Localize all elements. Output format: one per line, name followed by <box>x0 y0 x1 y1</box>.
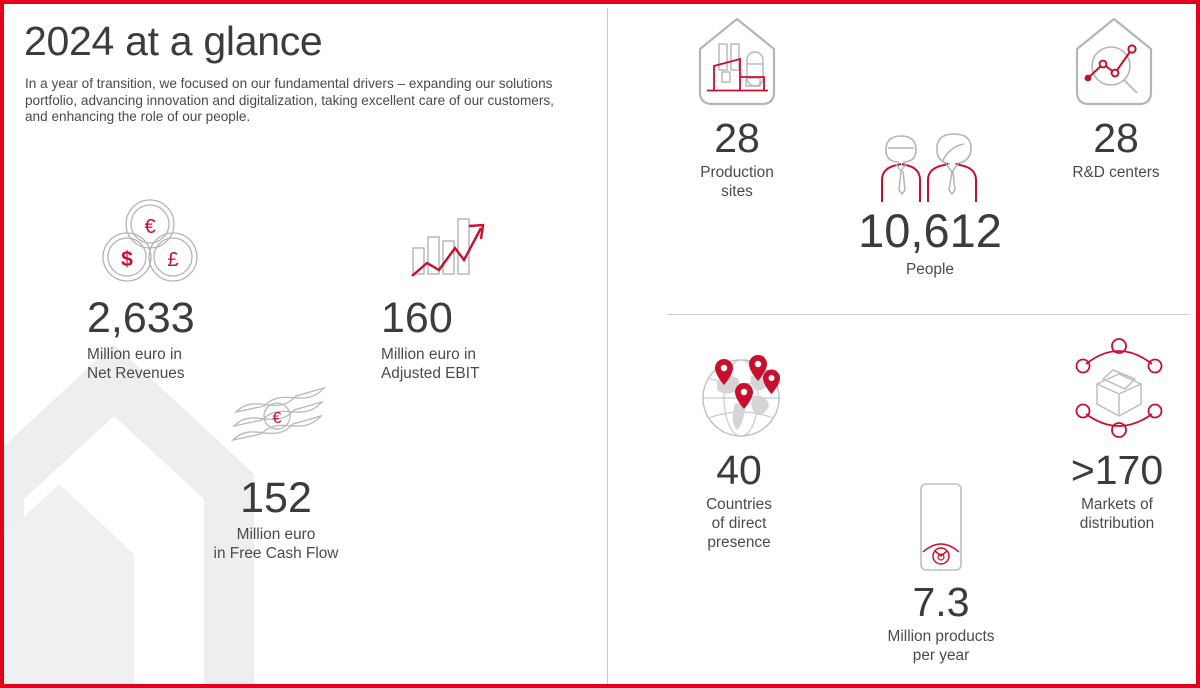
stat-label-line2: in Free Cash Flow <box>164 544 388 563</box>
stat-value: 7.3 <box>850 580 1032 624</box>
research-house-icon <box>1071 16 1157 108</box>
stat-value: 10,612 <box>830 206 1030 257</box>
page-title: 2024 at a glance <box>24 18 322 65</box>
stat-value: 2,633 <box>87 296 195 341</box>
stat-label-line1: Million euro in <box>381 345 479 364</box>
stat-label-line2: sites <box>656 182 818 201</box>
growth-chart-icon <box>411 204 491 282</box>
stat-label-line1: Million products <box>850 627 1032 646</box>
stat-markets: >170 Markets of distribution <box>1036 448 1198 533</box>
stat-value: 152 <box>164 476 388 521</box>
svg-text:€: € <box>144 216 155 238</box>
stat-label-line2: of direct <box>658 514 820 533</box>
stat-value: 160 <box>381 296 479 341</box>
three-coins-icon: € $ £ <box>100 197 200 287</box>
stat-label-line1: R&D centers <box>1036 163 1196 182</box>
stat-people: 10,612 People <box>830 206 1030 279</box>
stat-label-line2: distribution <box>1036 514 1198 533</box>
infographic-slide: 2024 at a glance In a year of transition… <box>0 0 1200 688</box>
stat-label-line1: Markets of <box>1036 495 1198 514</box>
stat-value: 28 <box>656 116 818 160</box>
stat-label-line3: presence <box>658 533 820 552</box>
stat-free-cash-flow: 152 Million euro in Free Cash Flow <box>164 476 388 563</box>
distribution-network-icon <box>1072 338 1166 438</box>
stat-label-line1: Countries <box>658 495 820 514</box>
stat-label-line2: per year <box>850 646 1032 665</box>
globe-pins-icon <box>695 352 787 440</box>
stat-label-line2: Adjusted EBIT <box>381 364 479 383</box>
stat-value: 28 <box>1036 116 1196 160</box>
svg-text:£: £ <box>167 249 178 271</box>
stat-label-line1: Production <box>656 163 818 182</box>
right-panel: 28 Production sites 28 R&D centers <box>608 4 1200 684</box>
stat-label-line1: Million euro <box>164 525 388 544</box>
stat-net-revenues: 2,633 Million euro in Net Revenues <box>87 296 195 383</box>
page-subtitle: In a year of transition, we focused on o… <box>25 76 577 126</box>
stat-adjusted-ebit: 160 Million euro in Adjusted EBIT <box>381 296 479 383</box>
stat-value: 40 <box>658 448 820 492</box>
banknote-euro-icon: € <box>230 382 330 454</box>
svg-text:$: $ <box>121 248 133 271</box>
left-panel: 2024 at a glance In a year of transition… <box>4 4 607 684</box>
two-people-icon <box>876 132 982 204</box>
svg-text:€: € <box>273 410 282 427</box>
stat-products: 7.3 Million products per year <box>850 580 1032 665</box>
factory-house-icon <box>694 16 780 108</box>
stat-value: >170 <box>1036 448 1198 492</box>
stat-rd-centers: 28 R&D centers <box>1036 116 1196 182</box>
stat-label-line1: Million euro in <box>87 345 195 364</box>
product-package-icon <box>913 482 969 574</box>
stat-label-line2: Net Revenues <box>87 364 195 383</box>
stat-production-sites: 28 Production sites <box>656 116 818 201</box>
stat-countries: 40 Countries of direct presence <box>658 448 820 552</box>
stat-label-line1: People <box>830 260 1030 279</box>
